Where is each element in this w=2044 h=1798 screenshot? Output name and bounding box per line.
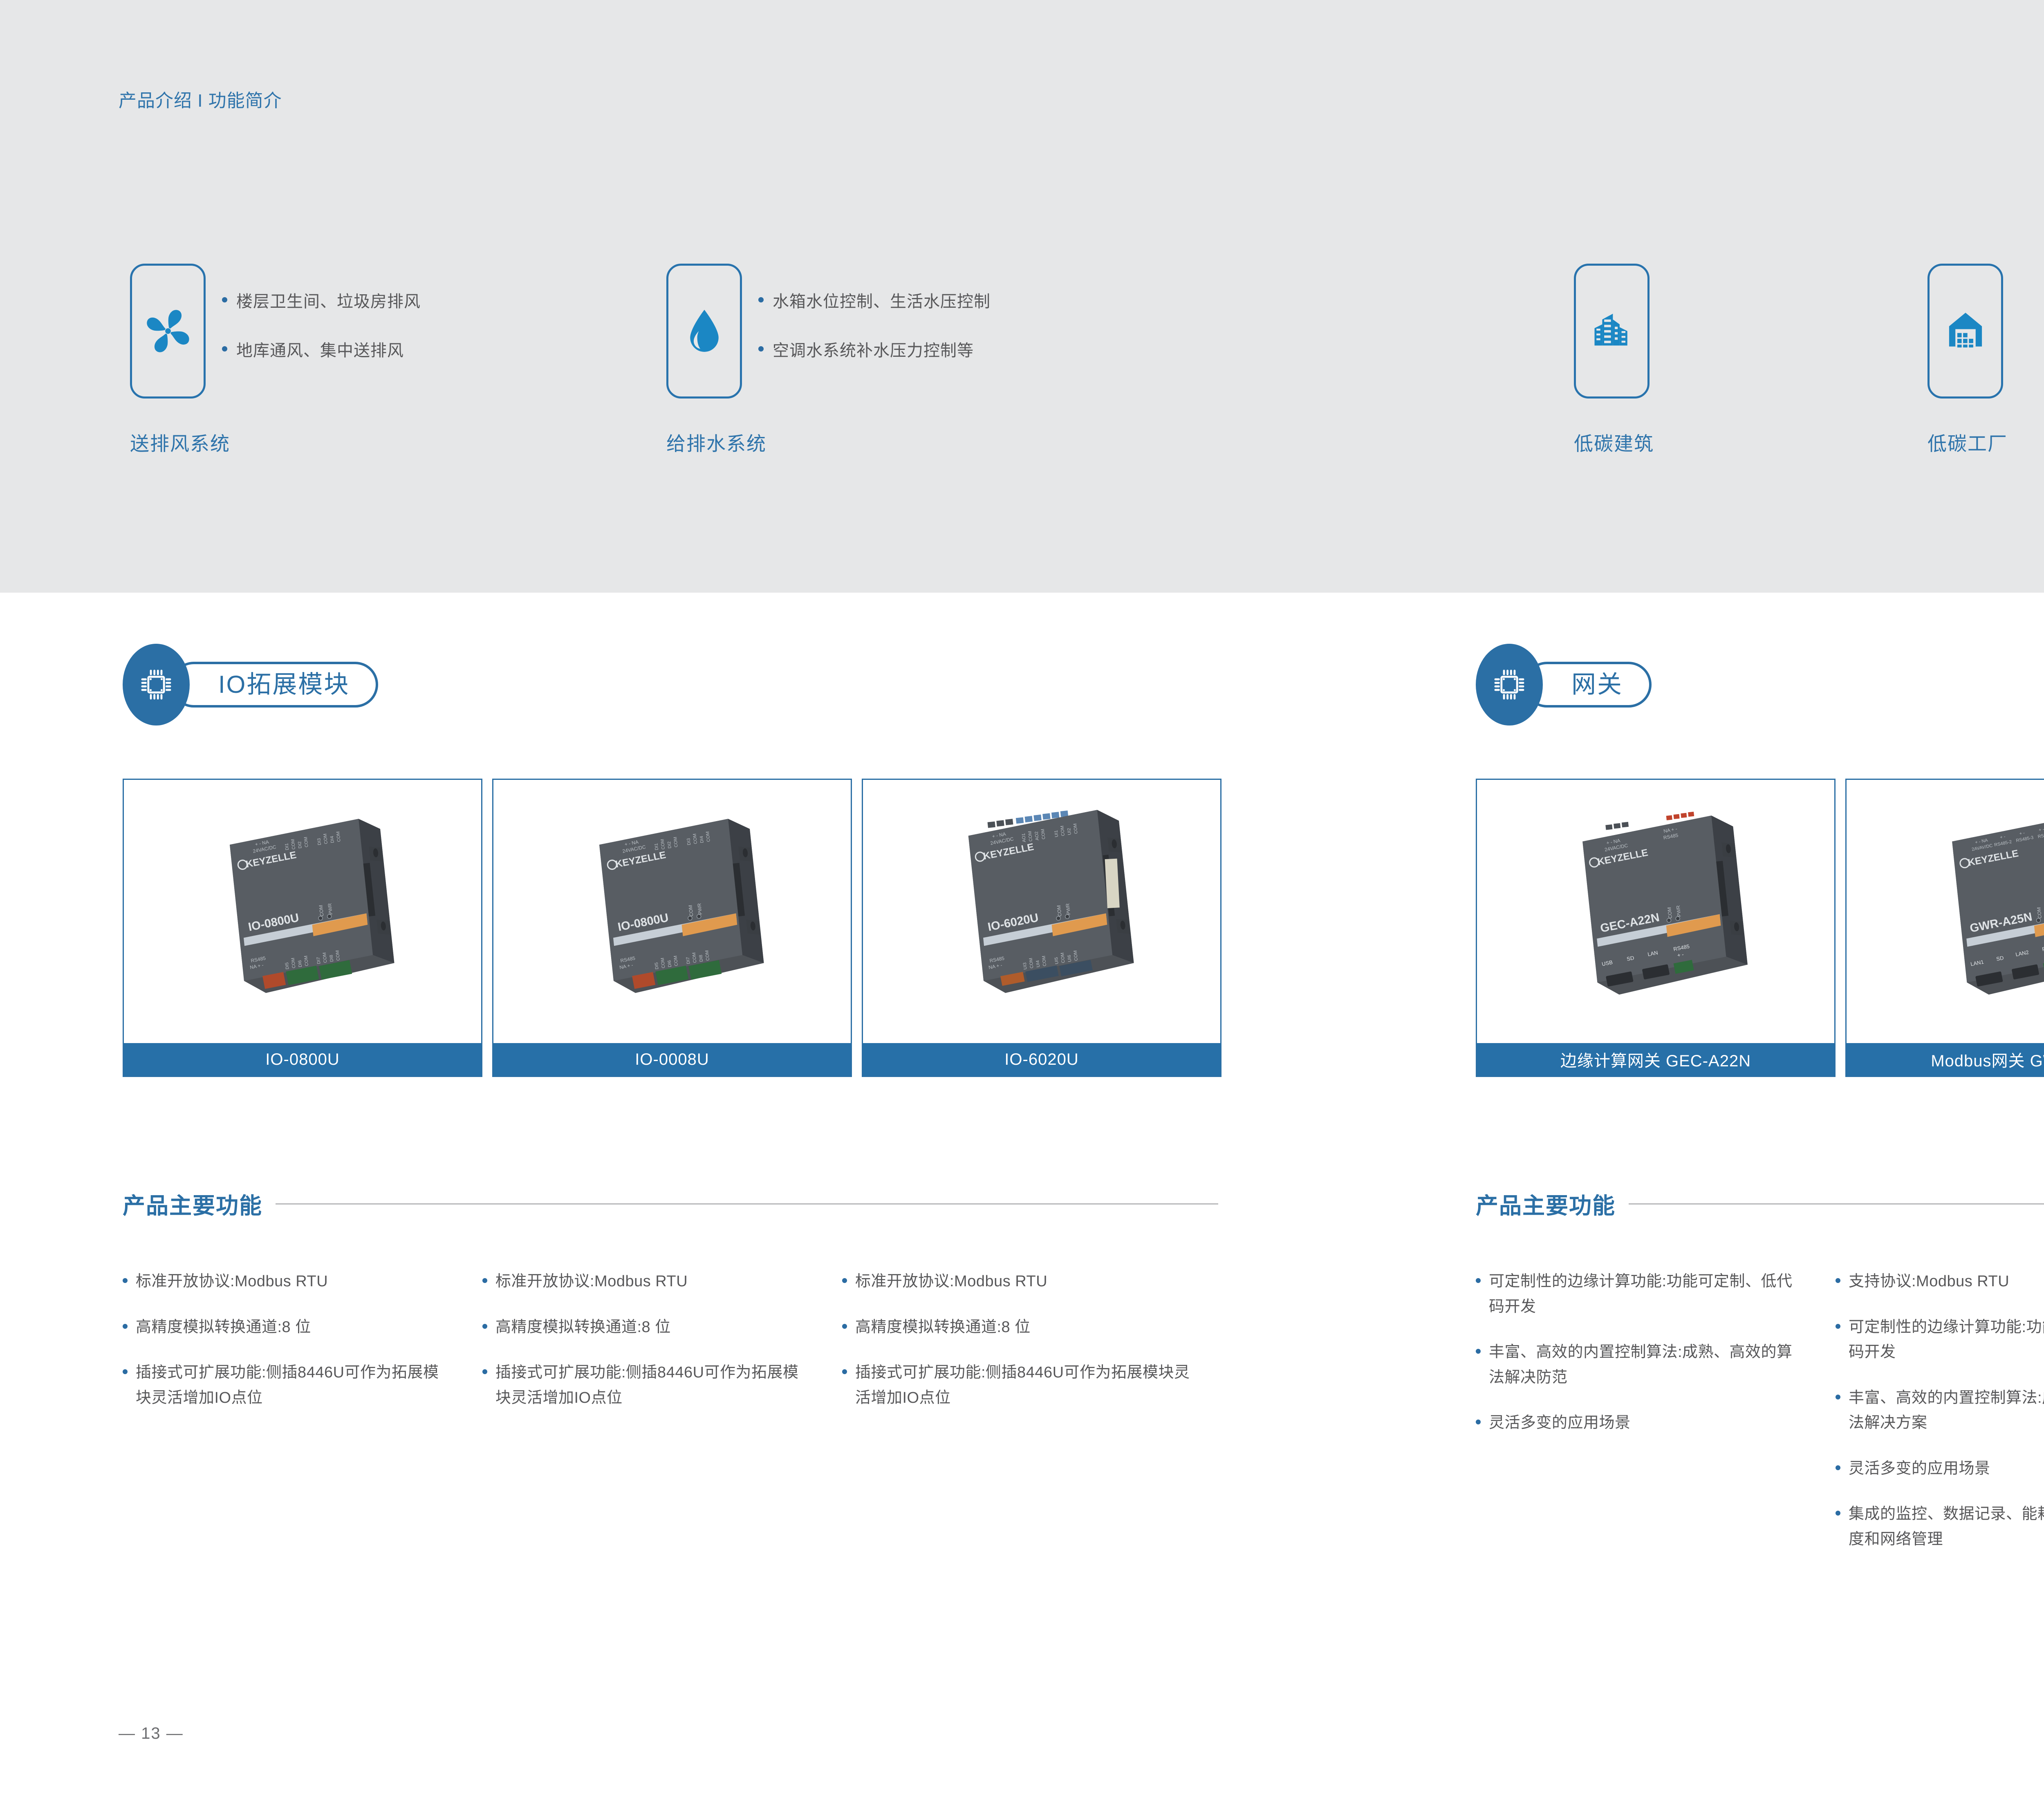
product-image: GWR-A25N KEYZELLE + - NA + - + - + - + -… [1847, 780, 2044, 1043]
svg-text:+ -: + - [2019, 831, 2026, 836]
feature-text: 可定制性的边缘计算功能:功能可定制、低代码开发 [1489, 1269, 1805, 1319]
svg-text:DI7: DI7 [316, 957, 322, 964]
scenario-label: 低碳工厂 [1927, 428, 2003, 456]
feature-item: 灵活多变的应用场景 [1476, 1411, 1805, 1436]
bullet-dot [1476, 1278, 1481, 1283]
bullet-item: 空调水系统补水压力控制等 [758, 337, 1069, 361]
features-block-gateway: 产品主要功能 可定制性的边缘计算功能:功能可定制、低代码开发 丰富、高效的内置控… [1476, 1187, 2044, 1572]
feature-text: 高精度模拟转换通道:8 位 [855, 1315, 1031, 1340]
product-card[interactable]: IO-0800U KEYZELLE + - NA 24VAC/DC DI1 CO… [492, 779, 852, 1077]
product-caption: 边缘计算网关 GEC-A22N [1477, 1043, 1834, 1076]
features-column: 标准开放协议:Modbus RTU 高精度模拟转换通道:8 位 插接式可扩展功能… [482, 1269, 842, 1431]
feature-text: 标准开放协议:Modbus RTU [495, 1269, 688, 1294]
bullet-dot [1836, 1465, 1840, 1470]
svg-text:DI4: DI4 [329, 836, 335, 843]
feature-text: 丰富、高效的内置控制算法:成熟、高效的算法解决防范 [1489, 1340, 1805, 1390]
fan-icon [143, 306, 193, 356]
bullet-dot [482, 1278, 487, 1283]
product-card-list-io: IO-0800U KEYZELLE + - NA 24VAC/DC DI1 CO… [123, 779, 1221, 1077]
svg-text:DI7: DI7 [686, 957, 691, 964]
svg-text:DI6: DI6 [667, 960, 673, 967]
feature-item: 高精度模拟转换通道:8 位 [123, 1315, 452, 1340]
office-building-icon [1588, 307, 1636, 355]
feature-text: 插接式可扩展功能:侧插8446U可作为拓展模块灵活增加IO点位 [136, 1360, 452, 1411]
factory-icon [1941, 307, 1990, 355]
feature-text: 插接式可扩展功能:侧插8446U可作为拓展模块灵活增加IO点位 [855, 1360, 1202, 1411]
product-caption: IO-0800U [124, 1043, 481, 1076]
product-image: IO-6020U KEYZELLE + - NA 24VAC/DC AO1 CO… [863, 780, 1220, 1043]
feature-text: 集成的监控、数据记录、能耗计量、报警、调度和网络管理 [1849, 1502, 2044, 1552]
svg-text:DI3: DI3 [686, 838, 692, 845]
svg-text:AO1: AO1 [1021, 833, 1027, 842]
features-rule [1629, 1203, 2044, 1205]
svg-text:COM: COM [1056, 905, 1063, 917]
bullet-dot [482, 1369, 487, 1374]
section-title: IO拓展模块 [218, 672, 350, 697]
feature-text: 标准开放协议:Modbus RTU [136, 1269, 328, 1294]
bullet-item: 地库通风、集中送排风 [222, 337, 533, 361]
svg-text:UI1: UI1 [1054, 830, 1060, 837]
feature-item: 可定制性的边缘计算功能:功能可定制、低代码开发 [1476, 1269, 1805, 1319]
bullet-item: 水箱水位控制、生活水压控制 [758, 288, 1069, 312]
bullet-dot [123, 1278, 128, 1283]
svg-text:DI2: DI2 [297, 841, 303, 849]
scenario-label: 送排风系统 [130, 428, 230, 456]
svg-text:COM: COM [1666, 907, 1673, 919]
chip-icon [137, 665, 176, 704]
feature-item: 插接式可扩展功能:侧插8446U可作为拓展模块灵活增加IO点位 [482, 1360, 811, 1411]
features-columns: 可定制性的边缘计算功能:功能可定制、低代码开发 丰富、高效的内置控制算法:成熟、… [1476, 1269, 2044, 1572]
svg-text:DI4: DI4 [699, 836, 705, 843]
svg-text:PWR: PWR [1065, 903, 1071, 915]
bullet-dot [482, 1324, 487, 1329]
bullet-text: 水箱水位控制、生活水压控制 [773, 288, 991, 312]
feature-item: 标准开放协议:Modbus RTU [482, 1269, 811, 1294]
device-io-6020u-photo: IO-6020U KEYZELLE + - NA 24VAC/DC AO1 CO… [899, 797, 1185, 1026]
product-card[interactable]: IO-0800U KEYZELLE + - NA 24VAC/DC DI1 CO… [123, 779, 482, 1077]
bullet-text: 空调水系统补水压力控制等 [773, 337, 974, 361]
scenario-bullets: 水箱水位控制、生活水压控制 空调水系统补水压力控制等 [758, 288, 1069, 361]
feature-text: 标准开放协议:Modbus RTU [855, 1269, 1047, 1294]
svg-text:UI3: UI3 [1022, 962, 1028, 970]
chip-icon-badge [123, 644, 190, 725]
feature-item: 丰富、高效的内置控制算法:成熟、高效的算法解决防范 [1476, 1340, 1805, 1390]
office-building-icon-frame [1574, 264, 1650, 399]
feature-item: 集成的监控、数据记录、能耗计量、报警、调度和网络管理 [1836, 1502, 2044, 1552]
feature-text: 高精度模拟转换通道:8 位 [136, 1315, 311, 1340]
product-card[interactable]: GEC-A22N KEYZELLE + - NA 24VAC/DC NA + -… [1476, 779, 1836, 1077]
features-columns: 标准开放协议:Modbus RTU 高精度模拟转换通道:8 位 插接式可扩展功能… [123, 1269, 1218, 1431]
bullet-dot [1836, 1324, 1840, 1329]
feature-text: 高精度模拟转换通道:8 位 [495, 1315, 671, 1340]
feature-item: 插接式可扩展功能:侧插8446U可作为拓展模块灵活增加IO点位 [123, 1360, 452, 1411]
svg-text:DI5: DI5 [285, 962, 290, 970]
product-caption: IO-0008U [493, 1043, 851, 1076]
chip-icon [1490, 665, 1529, 704]
product-caption: Modbus网关 GWR-A25N [1847, 1043, 2044, 1076]
running-head-left: 产品介绍 I 功能简介 [119, 86, 282, 112]
feature-item: 标准开放协议:Modbus RTU [123, 1269, 452, 1294]
svg-text:PWR: PWR [1675, 905, 1682, 917]
bullet-dot [1836, 1278, 1840, 1283]
bullet-dot [842, 1278, 847, 1283]
features-block-io: 产品主要功能 标准开放协议:Modbus RTU 高精度模拟转换通道:8 位 插… [123, 1187, 1218, 1431]
bullet-text: 楼层卫生间、垃圾房排风 [236, 288, 421, 312]
device-io-0008u-photo: IO-0800U KEYZELLE + - NA 24VAC/DC DI1 CO… [529, 797, 815, 1026]
svg-text:UI5: UI5 [1054, 957, 1060, 964]
svg-text:AO2: AO2 [1034, 831, 1040, 841]
product-card[interactable]: IO-6020U KEYZELLE + - NA 24VAC/DC AO1 CO… [862, 779, 1221, 1077]
page-number-left: — 13 — [119, 1724, 184, 1743]
feature-item: 标准开放协议:Modbus RTU [842, 1269, 1202, 1294]
scenario-label: 给排水系统 [666, 428, 766, 456]
bullet-dot [842, 1324, 847, 1329]
svg-text:DI8: DI8 [329, 954, 335, 962]
svg-text:DI5: DI5 [654, 962, 660, 970]
svg-text:COM: COM [688, 905, 695, 916]
scenario-label: 低碳建筑 [1574, 428, 1650, 456]
section-title-pill: 网关 [1524, 662, 1652, 708]
fan-icon-frame [130, 264, 206, 399]
scenario-low-carbon-building: 低碳建筑 [1574, 264, 1650, 456]
svg-text:DI8: DI8 [699, 954, 704, 962]
svg-text:UI4: UI4 [1035, 960, 1041, 967]
section-header-io-modules: IO拓展模块 [123, 644, 378, 725]
features-column: 可定制性的边缘计算功能:功能可定制、低代码开发 丰富、高效的内置控制算法:成熟、… [1476, 1269, 1836, 1572]
product-image: IO-0800U KEYZELLE + - NA 24VAC/DC DI1 CO… [124, 780, 481, 1043]
feature-text: 可定制性的边缘计算功能:功能可定制、低代码开发 [1849, 1315, 2044, 1365]
section-title-pill: IO拓展模块 [171, 662, 378, 708]
brochure-page: 产品介绍 I 功能简介 产品介绍 I 功能简介 送排风系统 楼层卫生间、垃圾房排… [0, 0, 2044, 1798]
feature-item: 插接式可扩展功能:侧插8446U可作为拓展模块灵活增加IO点位 [842, 1360, 1202, 1411]
feature-item: 高精度模拟转换通道:8 位 [482, 1315, 811, 1340]
scenario-bullets: 楼层卫生间、垃圾房排风 地库通风、集中送排风 [222, 288, 533, 361]
features-header: 产品主要功能 [1476, 1187, 2044, 1220]
bullet-dot [1476, 1420, 1481, 1424]
section-header-gateway: 网关 [1476, 644, 1652, 725]
scenario-water-supply: 给排水系统 水箱水位控制、生活水压控制 空调水系统补水压力控制等 [666, 264, 766, 456]
product-card[interactable]: GWR-A25N KEYZELLE + - NA + - + - + - + -… [1845, 779, 2044, 1077]
device-io-0800u-photo: IO-0800U KEYZELLE + - NA 24VAC/DC DI1 CO… [159, 797, 446, 1026]
features-title: 产品主要功能 [123, 1187, 262, 1220]
svg-text:DI6: DI6 [298, 960, 303, 967]
factory-icon-frame [1927, 264, 2003, 399]
feature-item: 灵活多变的应用场景 [1836, 1456, 2044, 1482]
svg-text:UI2: UI2 [1067, 828, 1072, 835]
feature-text: 插接式可扩展功能:侧插8446U可作为拓展模块灵活增加IO点位 [495, 1360, 811, 1411]
scenario-ventilation: 送排风系统 楼层卫生间、垃圾房排风 地库通风、集中送排风 [130, 264, 230, 456]
feature-text: 灵活多变的应用场景 [1849, 1456, 1990, 1482]
svg-text:DI3: DI3 [317, 838, 323, 845]
svg-text:+ -: + - [1999, 834, 2006, 840]
features-header: 产品主要功能 [123, 1187, 1218, 1220]
feature-text: 丰富、高效的内置控制算法:成熟、高效的算法解决方案 [1849, 1386, 2044, 1436]
svg-text:DI1: DI1 [284, 843, 290, 850]
svg-text:COM: COM [2036, 907, 2043, 919]
product-card-list-gateway: GEC-A22N KEYZELLE + - NA 24VAC/DC NA + -… [1476, 779, 2044, 1077]
svg-text:+ -: + - [2038, 827, 2044, 833]
bullet-dot [123, 1324, 128, 1329]
bullet-dot [1836, 1511, 1840, 1516]
bullet-dot [222, 297, 227, 302]
scenario-low-carbon-factory: 低碳工厂 [1927, 264, 2003, 456]
bullet-dot [1836, 1395, 1840, 1399]
bullet-dot [758, 297, 764, 302]
feature-item: 可定制性的边缘计算功能:功能可定制、低代码开发 [1836, 1315, 2044, 1365]
device-gec-a22n-photo: GEC-A22N KEYZELLE + - NA 24VAC/DC NA + -… [1513, 797, 1799, 1026]
svg-text:PWR: PWR [696, 903, 703, 915]
product-image: GEC-A22N KEYZELLE + - NA 24VAC/DC NA + -… [1477, 780, 1834, 1043]
feature-item: 支持协议:Modbus RTU [1836, 1269, 2044, 1294]
svg-text:COM: COM [318, 905, 325, 916]
product-image: IO-0800U KEYZELLE + - NA 24VAC/DC DI1 CO… [493, 780, 851, 1043]
features-title: 产品主要功能 [1476, 1187, 1616, 1220]
svg-text:+ -: + - [1677, 951, 1684, 958]
svg-text:DI1: DI1 [654, 843, 659, 850]
water-drop-icon-frame [666, 264, 742, 399]
bullet-item: 楼层卫生间、垃圾房排风 [222, 288, 533, 312]
svg-text:DI2: DI2 [667, 841, 672, 849]
bullet-dot [123, 1369, 128, 1374]
bullet-text: 地库通风、集中送排风 [236, 337, 404, 361]
product-caption: IO-6020U [863, 1043, 1220, 1076]
bullet-dot [842, 1369, 847, 1374]
feature-item: 丰富、高效的内置控制算法:成熟、高效的算法解决方案 [1836, 1386, 2044, 1436]
features-column: 支持协议:Modbus RTU 可定制性的边缘计算功能:功能可定制、低代码开发 … [1836, 1269, 2044, 1572]
bullet-dot [758, 346, 764, 352]
features-column: 标准开放协议:Modbus RTU 高精度模拟转换通道:8 位 插接式可扩展功能… [123, 1269, 482, 1431]
device-gwr-a25n-photo: GWR-A25N KEYZELLE + - NA + - + - + - + -… [1882, 797, 2044, 1026]
water-drop-icon [679, 306, 730, 356]
bullet-dot [222, 346, 227, 352]
features-column: 标准开放协议:Modbus RTU 高精度模拟转换通道:8 位 插接式可扩展功能… [842, 1269, 1202, 1431]
feature-item: 高精度模拟转换通道:8 位 [842, 1315, 1202, 1340]
chip-icon-badge [1476, 644, 1543, 725]
features-rule [276, 1203, 1218, 1205]
svg-text:UI6: UI6 [1067, 955, 1073, 962]
svg-text:PWR: PWR [327, 903, 334, 915]
section-title: 网关 [1571, 672, 1623, 697]
feature-text: 灵活多变的应用场景 [1489, 1411, 1631, 1436]
bullet-dot [1476, 1349, 1481, 1354]
feature-text: 支持协议:Modbus RTU [1849, 1269, 2009, 1294]
